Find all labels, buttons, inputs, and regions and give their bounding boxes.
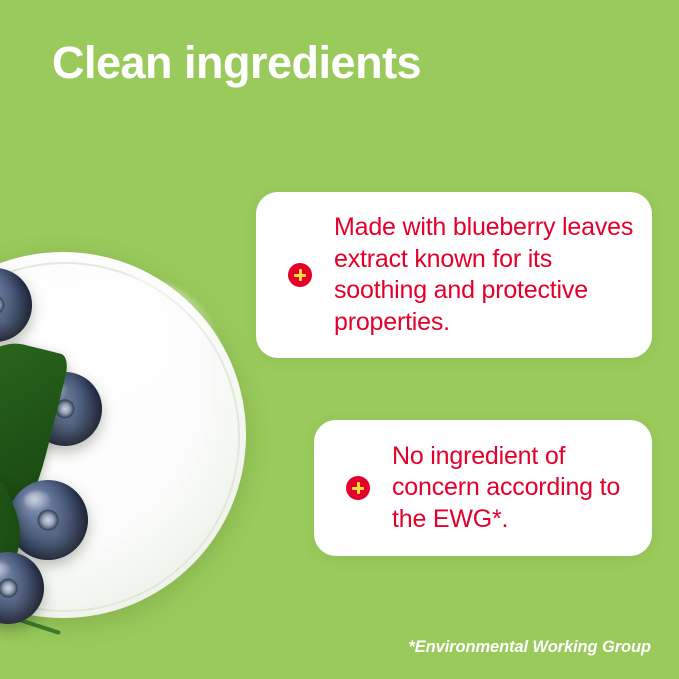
footnote: *Environmental Working Group bbox=[408, 638, 651, 657]
benefit-card-1: Made with blueberry leaves extract known… bbox=[256, 192, 652, 358]
plus-icon bbox=[288, 263, 312, 287]
page-title: Clean ingredients bbox=[52, 38, 421, 88]
benefit-card-1-text: Made with blueberry leaves extract known… bbox=[334, 212, 652, 338]
benefit-card-2: No ingredient of concern according to th… bbox=[314, 420, 652, 556]
blueberry bbox=[8, 480, 88, 560]
plus-icon bbox=[346, 476, 370, 500]
benefit-card-2-text: No ingredient of concern according to th… bbox=[392, 441, 652, 536]
product-photo bbox=[0, 252, 260, 679]
marketing-image: Clean ingredients Made with blueberry le… bbox=[0, 0, 679, 679]
